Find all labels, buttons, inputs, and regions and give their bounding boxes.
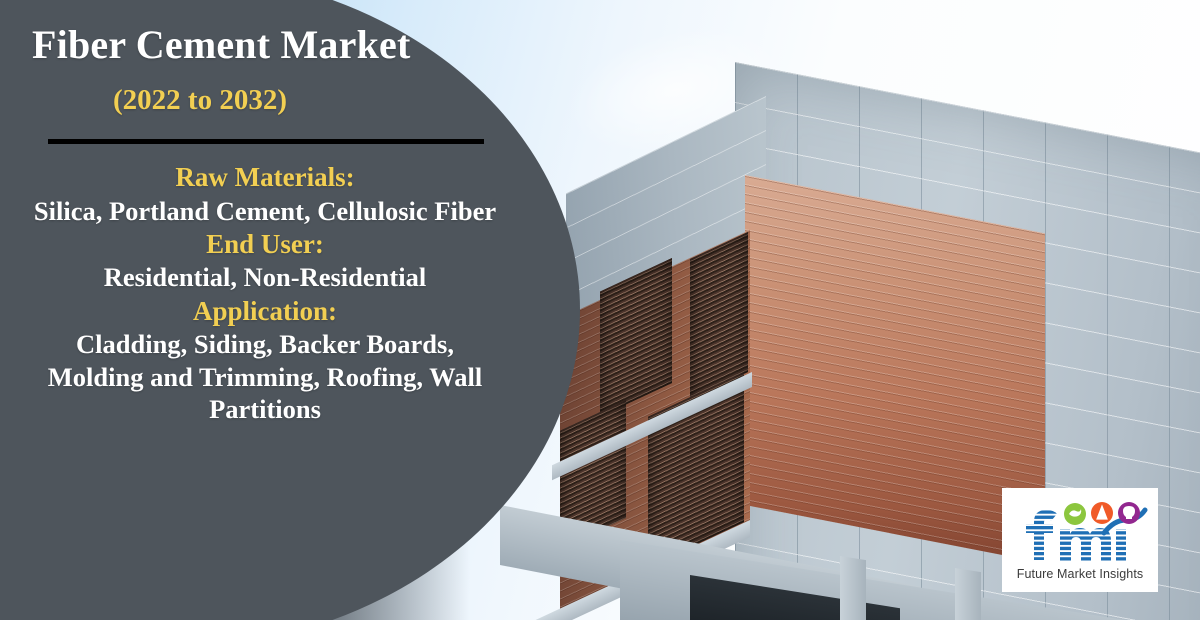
letter-f-icon: [1026, 510, 1057, 560]
spec-value-end-user: Residential, Non-Residential: [24, 261, 506, 293]
structural-column: [840, 556, 866, 620]
title-divider: [48, 139, 484, 144]
letter-i-icon: [1116, 529, 1126, 562]
wood-cladding-front: [745, 175, 1045, 563]
structural-column: [955, 568, 981, 620]
spec-label-end-user: End User:: [24, 227, 506, 262]
logo-circle-green: [1064, 503, 1086, 525]
banner-text-column: Fiber Cement Market (2022 to 2032) Raw M…: [0, 0, 530, 620]
fmi-logo-mark: [1008, 500, 1152, 566]
forecast-period-subtitle: (2022 to 2032): [24, 84, 506, 117]
spec-value-raw-materials: Silica, Portland Cement, Cellulosic Fibe…: [24, 195, 506, 227]
fiber-cement-market-banner: Fiber Cement Market (2022 to 2032) Raw M…: [0, 0, 1200, 620]
spec-label-raw-materials: Raw Materials:: [24, 160, 506, 195]
page-title: Fiber Cement Market: [24, 22, 506, 68]
spec-label-application: Application:: [24, 294, 506, 329]
fmi-logo-card[interactable]: Future Market Insights: [1002, 488, 1158, 592]
logo-circle-orange: [1091, 502, 1113, 524]
logo-circle-purple: [1118, 502, 1140, 524]
logo-tagline: Future Market Insights: [1017, 567, 1144, 581]
spec-value-application: Cladding, Siding, Backer Boards, Molding…: [24, 328, 506, 425]
market-segments-list: Raw Materials: Silica, Portland Cement, …: [24, 160, 506, 425]
